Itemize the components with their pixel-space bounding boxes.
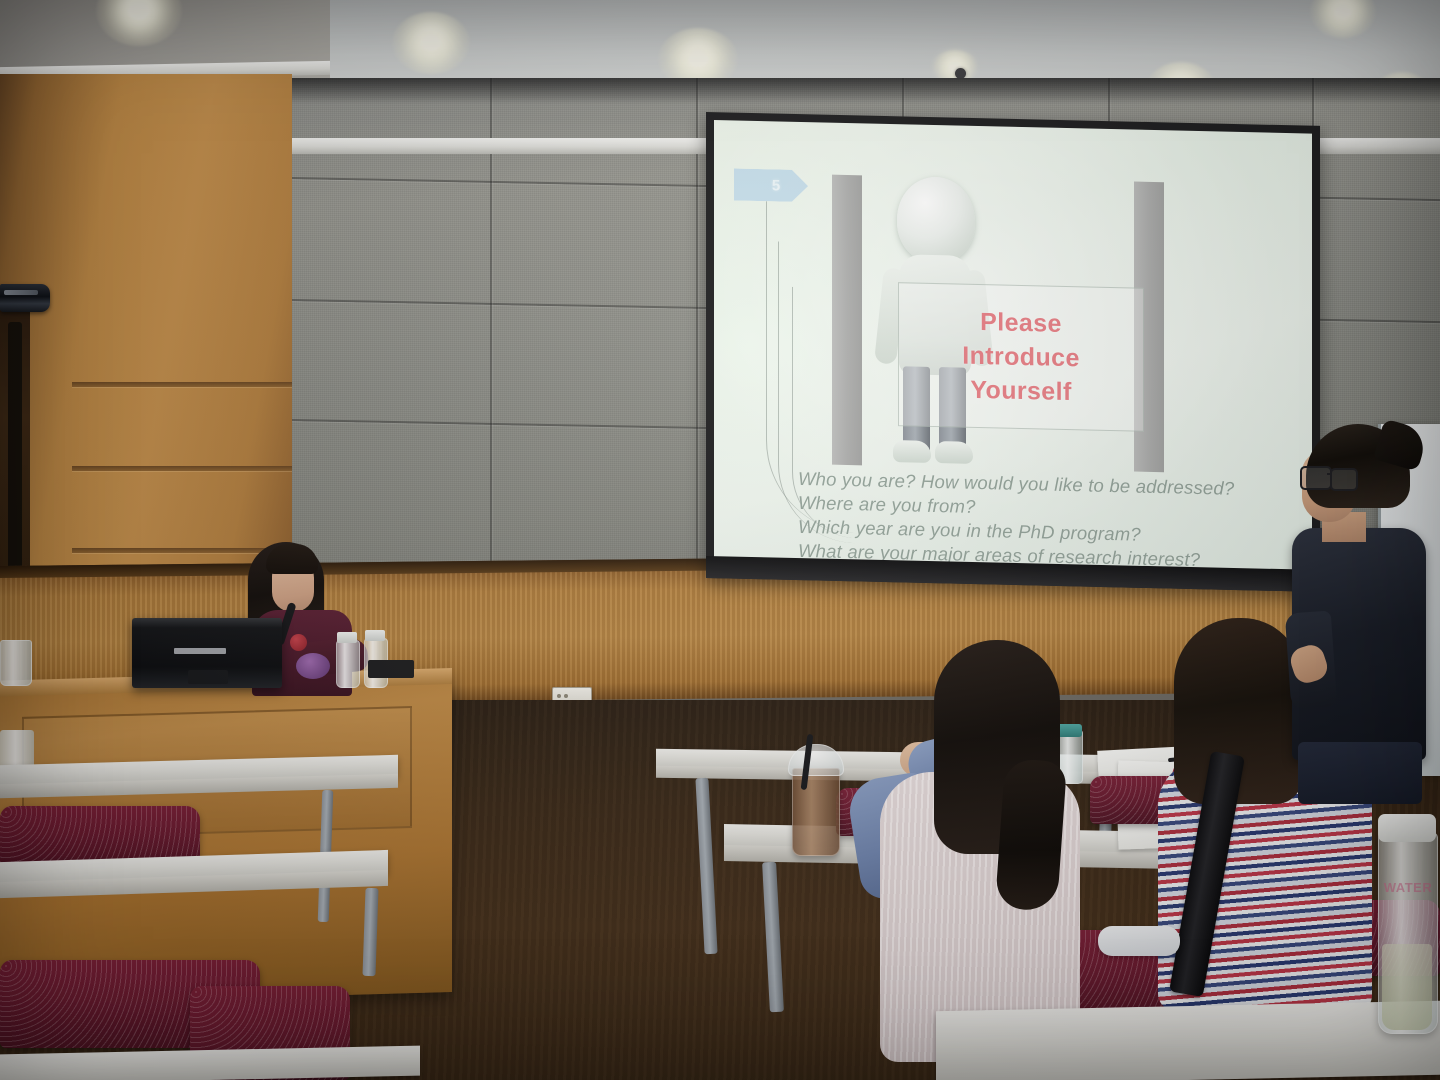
- figure-foot-right: [935, 441, 973, 464]
- water-bottle: [336, 640, 360, 688]
- slide-gray-bar: [832, 175, 862, 466]
- purple-object: [296, 653, 330, 679]
- iced-coffee-cup: [792, 768, 840, 856]
- sign-line: Please: [980, 308, 1062, 339]
- sign-line: Introduce: [962, 341, 1080, 373]
- monitor-stand: [188, 670, 228, 684]
- podium-object: [368, 660, 414, 678]
- presenter-hair-front: [266, 544, 318, 574]
- sign-line: Yourself: [970, 375, 1071, 406]
- student-ponytail: [995, 758, 1067, 912]
- cup: [0, 640, 32, 686]
- bottle-contents: [1382, 944, 1432, 1030]
- bottle-label: WATER: [1382, 880, 1434, 895]
- bottle-cap: [337, 632, 357, 643]
- microphone-icon: [290, 634, 307, 651]
- wall-top-shadow: [284, 78, 1440, 104]
- slide-sign: Please Introduce Yourself: [898, 282, 1144, 432]
- participant-pants: [1298, 742, 1422, 804]
- slide-number-label: 5: [772, 177, 780, 194]
- classroom-scene: 5 Please Introduce Yourself Who you are?…: [0, 0, 1440, 1080]
- slide-body-text: Who you are? How would you like to be ad…: [798, 468, 1288, 574]
- glasses-icon: [1330, 468, 1358, 491]
- wood-panel-wall: [0, 74, 292, 602]
- wood-groove: [72, 466, 292, 471]
- figure-head: [897, 176, 975, 264]
- white-object: [1098, 926, 1180, 956]
- desk: [936, 1001, 1440, 1080]
- glasses-bridge-icon: [1327, 473, 1332, 475]
- figure-foot-left: [893, 440, 931, 463]
- alcove-slot: [8, 322, 22, 584]
- bottle-cap: [365, 630, 385, 641]
- projection-screen[interactable]: 5 Please Introduce Yourself Who you are?…: [714, 120, 1312, 574]
- glasses-icon: [1300, 466, 1332, 490]
- wood-groove: [72, 382, 292, 387]
- bottle-cap: [1378, 814, 1436, 842]
- wall-device-icon: [0, 284, 50, 312]
- ceiling-light-icon: [392, 12, 470, 74]
